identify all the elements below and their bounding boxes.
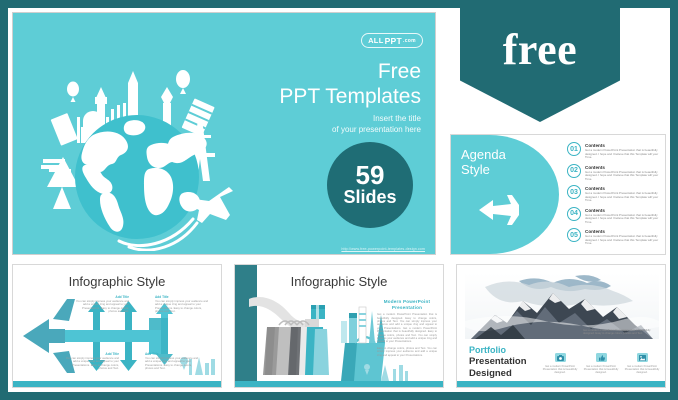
infographic-bags-slide[interactable]: Infographic Style (234, 264, 444, 388)
infographic-arrows-slide[interactable]: Infographic Style (12, 264, 222, 388)
agenda-item-number: 01 (567, 142, 581, 156)
portfolio-column-body: Get a modern PowerPoint Presentation tha… (541, 365, 579, 375)
agenda-item-number: 02 (567, 164, 581, 178)
bags-heading-line1: Modern PowerPoint (377, 299, 437, 305)
portfolio-column[interactable]: Get a modern PowerPoint Presentation tha… (623, 353, 661, 374)
airplane-icon (477, 193, 521, 227)
free-ribbon-banner: free (460, 0, 620, 122)
agenda-item[interactable]: 01 Contents Get a modern PowerPoint Pres… (567, 142, 663, 160)
agenda-title: Agenda Style (461, 147, 506, 177)
hero-subtitle-line2: of your presentation here (332, 125, 421, 136)
bags-heading-line2: Presentation (377, 305, 437, 311)
portfolio-column[interactable]: Get a modern PowerPoint Presentation tha… (541, 353, 579, 374)
arrows-block-body: You can simply impress your audience and… (75, 300, 129, 314)
allppt-logo: ALL PPT .com (361, 33, 423, 48)
slide-bottom-bar (235, 381, 443, 387)
agenda-item-body: Get a modern PowerPoint Presentation tha… (585, 235, 663, 246)
agenda-item-number: 04 (567, 207, 581, 221)
arrows-text-block: Add Title You can simply impress your au… (155, 295, 211, 313)
image-icon (637, 353, 648, 362)
logo-text-com: .com (403, 38, 416, 44)
free-ribbon-label: free (503, 24, 577, 75)
slide-count-label: Slides (343, 188, 396, 207)
bags-body-1: Get a modern PowerPoint Presentation tha… (377, 313, 437, 344)
globe-travel-illustration (33, 61, 253, 251)
hero-subtitle-line1: Insert the title (332, 114, 421, 125)
hero-title-line2: PPT Templates (279, 84, 421, 109)
portfolio-columns: Get a modern PowerPoint Presentation tha… (541, 353, 661, 374)
agenda-item-number: 03 (567, 185, 581, 199)
agenda-title-line1: Agenda (461, 147, 506, 162)
hero-title: Free PPT Templates (279, 59, 421, 109)
portfolio-column-body: Get a modern PowerPoint Presentation tha… (623, 365, 661, 375)
agenda-item[interactable]: 05 Contents Get a modern PowerPoint Pres… (567, 228, 663, 246)
portfolio-note: Get a modern PowerPoint Presentation tha… (583, 329, 657, 336)
hero-subtitle: Insert the title of your presentation he… (332, 114, 421, 135)
camera-icon (555, 353, 566, 362)
infographic-arrows-title: Infographic Style (13, 274, 221, 289)
slide-count-number: 59 (356, 163, 385, 188)
portfolio-column[interactable]: Get a modern PowerPoint Presentation tha… (582, 353, 620, 374)
hero-slide[interactable]: ALL PPT .com Free PPT Templates Insert t… (12, 12, 436, 255)
arrows-block-body: You can simply impress your audience and… (155, 300, 211, 314)
agenda-items-list: 01 Contents Get a modern PowerPoint Pres… (567, 142, 663, 246)
arrows-block-body: You can simply impress your audience and… (145, 357, 201, 371)
logo-text-all: ALL (368, 36, 383, 45)
slide-bottom-bar (457, 381, 665, 387)
source-url[interactable]: http://www.free-powerpoint-templates-des… (341, 247, 425, 251)
agenda-title-line2: Style (461, 162, 506, 177)
portfolio-column-body: Get a modern PowerPoint Presentation tha… (582, 365, 620, 375)
portfolio-heading: Portfolio Presentation Designed (469, 345, 527, 379)
preview-canvas: ALL PPT .com Free PPT Templates Insert t… (8, 8, 670, 392)
arrows-text-block: Add Title You can simply impress your au… (75, 295, 129, 313)
page-frame: ALL PPT .com Free PPT Templates Insert t… (0, 0, 678, 400)
infographic-bags-title: Infographic Style (235, 274, 443, 289)
slide-bottom-bar (13, 381, 221, 387)
hero-title-line1: Free (279, 59, 421, 84)
thumbs-up-icon (596, 353, 607, 362)
agenda-item-body: Get a modern PowerPoint Presentation tha… (585, 192, 663, 203)
arrows-text-block: Add Title You can simply impress your au… (145, 352, 201, 370)
agenda-item[interactable]: 03 Contents Get a modern PowerPoint Pres… (567, 185, 663, 203)
agenda-item-number: 05 (567, 228, 581, 242)
portfolio-heading-accent: Portfolio (469, 345, 527, 356)
slide-count-badge: 59 Slides (327, 142, 413, 228)
agenda-item[interactable]: 02 Contents Get a modern PowerPoint Pres… (567, 164, 663, 182)
portfolio-slide[interactable]: Get a modern PowerPoint Presentation tha… (456, 264, 666, 388)
portfolio-heading-line2: Designed (469, 368, 527, 380)
portfolio-note-body: Get a modern PowerPoint Presentation tha… (583, 329, 657, 336)
agenda-item-body: Get a modern PowerPoint Presentation tha… (585, 149, 663, 160)
agenda-slide[interactable]: Agenda Style 01 Contents Get a modern Po… (450, 134, 666, 255)
bags-body-2: Easy to change colors, photos and Text. … (377, 347, 437, 357)
agenda-left-panel: Agenda Style (451, 135, 559, 254)
arrows-block-body: You can simply impress your audience and… (63, 357, 119, 371)
arrows-text-block: Add Title You can simply impress your au… (63, 352, 119, 370)
bags-text-panel: Modern PowerPoint Presentation Get a mod… (377, 299, 437, 357)
agenda-item[interactable]: 04 Contents Get a modern PowerPoint Pres… (567, 207, 663, 225)
agenda-item-body: Get a modern PowerPoint Presentation tha… (585, 171, 663, 182)
agenda-item-body: Get a modern PowerPoint Presentation tha… (585, 214, 663, 225)
logo-text-ppt: PPT (385, 36, 402, 46)
portfolio-heading-line1: Presentation (469, 356, 527, 368)
